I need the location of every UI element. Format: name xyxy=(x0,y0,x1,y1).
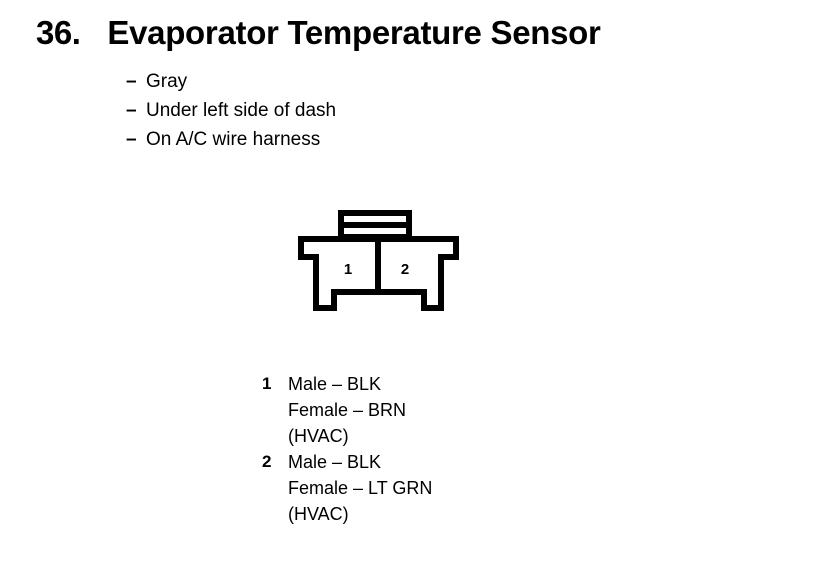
pin-legend-line: Male – BLK xyxy=(288,374,381,394)
pin-legend-lines: Male – BLK Female – BRN (HVAC) xyxy=(288,371,406,449)
description-list: – Gray – Under left side of dash – On A/… xyxy=(126,67,336,154)
pin-legend-line: (HVAC) xyxy=(288,504,349,524)
connector-diagram: 1 2 xyxy=(290,200,470,330)
pin-legend: 1 Male – BLK Female – BRN (HVAC) 2 Male … xyxy=(262,371,432,527)
pin-legend-line: Male – BLK xyxy=(288,452,381,472)
connector-outline-icon: 1 2 xyxy=(290,200,470,330)
cavity-label-1: 1 xyxy=(344,261,352,278)
component-title: Evaporator Temperature Sensor xyxy=(107,14,600,52)
pin-legend-entry: 1 Male – BLK Female – BRN (HVAC) xyxy=(262,371,432,449)
cavity-label-2: 2 xyxy=(401,261,409,278)
description-item-label: Under left side of dash xyxy=(146,96,336,125)
page-title: 36. Evaporator Temperature Sensor xyxy=(36,14,601,52)
pin-legend-line: (HVAC) xyxy=(288,426,349,446)
pin-legend-line: Female – BRN xyxy=(288,400,406,420)
pin-legend-number: 1 xyxy=(262,371,288,397)
item-number: 36. xyxy=(36,14,80,52)
pin-legend-line: Female – LT GRN xyxy=(288,478,432,498)
dash-bullet-icon: – xyxy=(126,96,146,125)
pin-legend-lines: Male – BLK Female – LT GRN (HVAC) xyxy=(288,449,432,527)
description-item: – On A/C wire harness xyxy=(126,125,336,154)
description-item: – Gray xyxy=(126,67,336,96)
dash-bullet-icon: – xyxy=(126,67,146,96)
pin-legend-entry: 2 Male – BLK Female – LT GRN (HVAC) xyxy=(262,449,432,527)
pin-legend-number: 2 xyxy=(262,449,288,475)
description-item-label: Gray xyxy=(146,67,187,96)
description-item-label: On A/C wire harness xyxy=(146,125,320,154)
dash-bullet-icon: – xyxy=(126,125,146,154)
description-item: – Under left side of dash xyxy=(126,96,336,125)
